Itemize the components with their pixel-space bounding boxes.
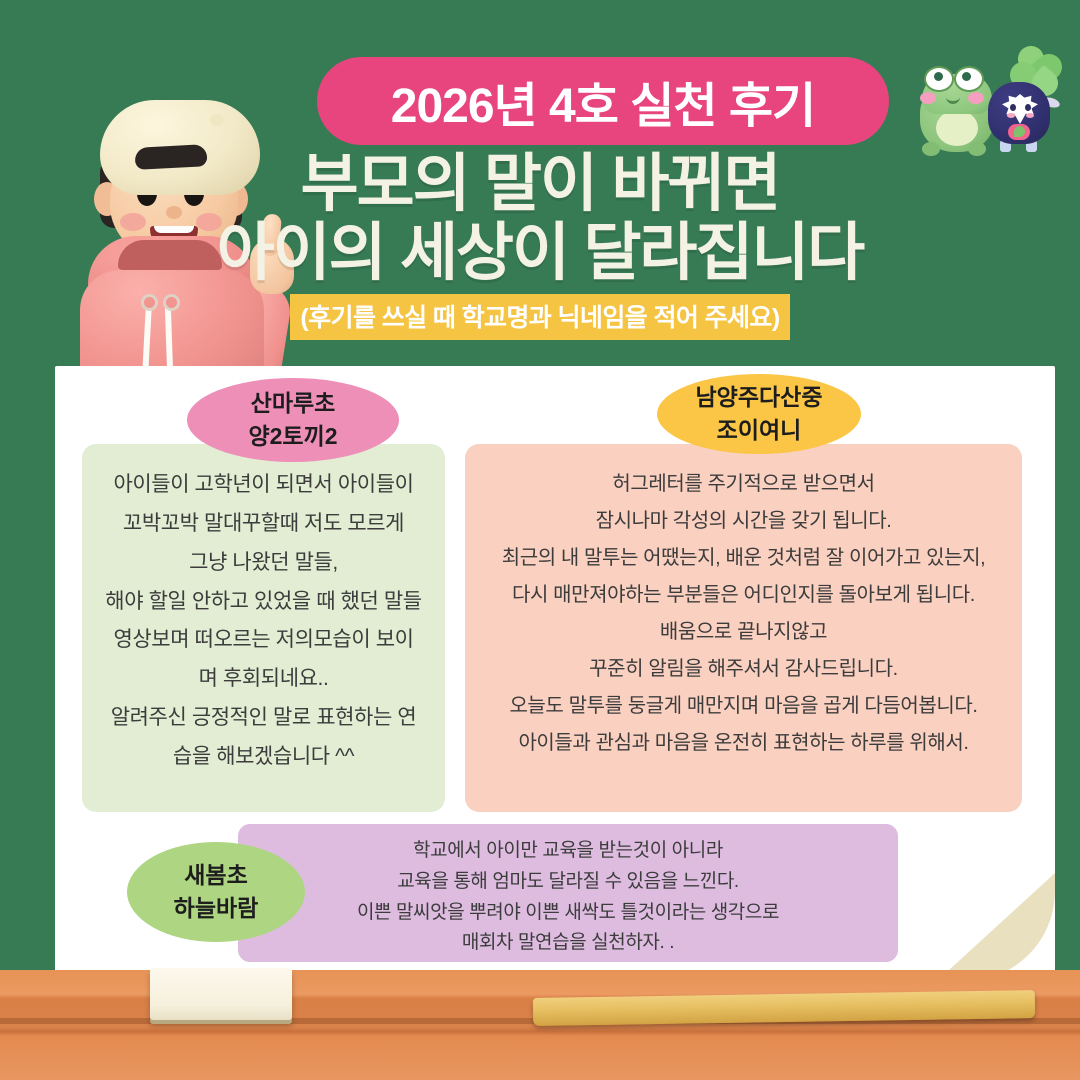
frog-mascot-pupil-left	[934, 72, 943, 81]
badge-school: 산마루초	[251, 387, 336, 420]
testimonial-line: 잠시나마 각성의 시간을 갖기 됩니다.	[481, 503, 1006, 540]
badge-nickname: 조이여니	[717, 414, 802, 447]
sheep-mascot-badge	[1008, 124, 1030, 140]
badge-school: 남양주다산중	[696, 381, 823, 414]
testimonial-line: 배움으로 끝나지않고	[481, 614, 1006, 651]
testimonials-card: 아이들이 고학년이 되면서 아이들이 꼬박꼬박 말대꾸할때 저도 모르게 그냥 …	[55, 366, 1055, 981]
sheep-mascot-cheek-left	[1007, 113, 1015, 118]
sheep-mascot-cheek-right	[1026, 113, 1034, 118]
frog-mascot-cheek-right	[968, 92, 984, 104]
badge-school: 새봄초	[184, 859, 247, 892]
author-badge-sanmaru: 산마루초 양2토끼2	[187, 378, 399, 462]
testimonial-panel-namyangju: 허그레터를 주기적으로 받으면서 잠시나마 각성의 시간을 갖기 됩니다. 최근…	[465, 444, 1022, 812]
testimonial-line: 매회차 말연습을 실천하자. .	[254, 928, 882, 959]
subnote-container: (후기를 쓰실 때 학교명과 닉네임을 적어 주세요)	[0, 294, 1080, 340]
testimonial-line: 학교에서 아이만 교육을 받는것이 아니라	[254, 836, 882, 867]
issue-title-pill: 2026년 4호 실천 후기	[317, 57, 889, 145]
badge-nickname: 하늘바람	[174, 892, 259, 925]
page-title: 부모의 말이 바뀌면 아이의 세상이 달라집니다	[0, 150, 1080, 289]
testimonial-line: 며 후회되네요..	[98, 660, 429, 699]
testimonial-line: 해야 할일 안하고 있었을 때 했던 말들	[98, 583, 429, 622]
headline-line-2: 아이의 세상이 달라집니다	[0, 219, 1080, 288]
testimonial-line: 최근의 내 말투는 어땠는지, 배운 것처럼 잘 이어가고 있는지,	[481, 540, 1006, 577]
testimonial-panel-sanmaru: 아이들이 고학년이 되면서 아이들이 꼬박꼬박 말대꾸할때 저도 모르게 그냥 …	[82, 444, 445, 812]
testimonial-line: 교육을 통해 엄마도 달라질 수 있음을 느낀다.	[254, 867, 882, 898]
testimonial-panel-saebom: 학교에서 아이만 교육을 받는것이 아니라 교육을 통해 엄마도 달라질 수 있…	[238, 824, 898, 962]
frog-mascot-pupil-right	[962, 72, 971, 81]
testimonial-line: 아이들과 관심과 마음을 온전히 표현하는 하루를 위해서.	[481, 725, 1006, 762]
frog-mascot-belly	[936, 110, 978, 146]
testimonial-line: 영상보며 떠오르는 저의모습이 보이	[98, 621, 429, 660]
badge-nickname: 양2토끼2	[248, 420, 337, 453]
poster-root: 2026년 4호 실천 후기 부모의 말이 바뀌면 아이의 세상이 달라집니다 …	[0, 0, 1080, 1080]
testimonial-line: 허그레터를 주기적으로 받으면서	[481, 466, 1006, 503]
testimonial-line: 꼬박꼬박 말대꾸할때 저도 모르게	[98, 505, 429, 544]
author-badge-saebom: 새봄초 하늘바람	[127, 842, 305, 942]
sheep-mascot-eye-left	[1010, 104, 1016, 111]
testimonial-line: 다시 매만져야하는 부분들은 어디인지를 돌아보게 됩니다.	[481, 577, 1006, 614]
testimonial-line: 이쁜 말씨앗을 뿌려야 이쁜 새싹도 틀것이라는 생각으로	[254, 898, 882, 929]
chalk-eraser	[150, 968, 292, 1020]
testimonial-line: 그냥 나왔던 말들,	[98, 544, 429, 583]
testimonial-line: 오늘도 말투를 둥글게 매만지며 마음을 곱게 다듬어봅니다.	[481, 688, 1006, 725]
headline-line-1: 부모의 말이 바뀌면	[301, 149, 780, 219]
testimonial-line: 습을 해보겠습니다 ^^	[98, 738, 429, 777]
author-badge-namyangju: 남양주다산중 조이여니	[657, 374, 861, 454]
issue-title-label: 2026년 4호 실천 후기	[391, 66, 815, 136]
sheep-mascot-eye-right	[1025, 104, 1031, 111]
submission-instructions: (후기를 쓰실 때 학교명과 닉네임을 적어 주세요)	[290, 294, 789, 340]
testimonial-line: 아이들이 고학년이 되면서 아이들이	[98, 466, 429, 505]
cap-button	[210, 114, 224, 126]
testimonial-line: 꾸준히 알림을 해주셔서 감사드립니다.	[481, 651, 1006, 688]
frog-mascot-cheek-left	[920, 92, 936, 104]
testimonial-line: 알려주신 긍정적인 말로 표현하는 연	[98, 699, 429, 738]
